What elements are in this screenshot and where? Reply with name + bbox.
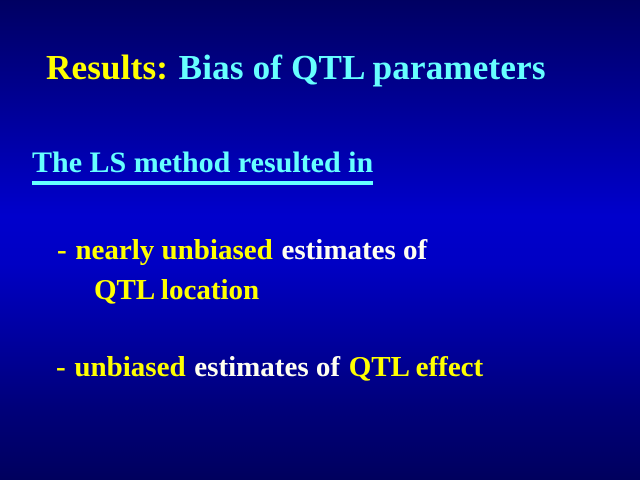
title-main: Bias of QTL parameters [179, 48, 546, 87]
bullet-1-line-1: -nearly unbiasedestimates of [57, 236, 427, 265]
bullet-2-line-1: -unbiasedestimates ofQTL effect [56, 353, 483, 382]
bullet-1-plain: estimates of [281, 234, 427, 266]
subheading-text: The LS method resulted in [32, 148, 373, 185]
bullet-1-continuation: QTL location [94, 274, 259, 306]
bullet-2-plain: estimates of [194, 351, 340, 383]
bullet-2-marker: - [56, 351, 66, 383]
title-prefix: Results: [46, 48, 168, 87]
slide-subheading: The LS method resulted in [32, 148, 373, 185]
bullet-2-emphasis-2: QTL effect [349, 351, 483, 383]
bullet-1-line-2: QTL location [94, 276, 259, 305]
presentation-slide: Results:Bias of QTL parameters The LS me… [0, 0, 640, 480]
bullet-1-marker: - [57, 234, 67, 266]
slide-title: Results:Bias of QTL parameters [46, 50, 546, 85]
bullet-1-emphasis: nearly unbiased [75, 234, 272, 266]
bullet-2-emphasis-1: unbiased [74, 351, 185, 383]
